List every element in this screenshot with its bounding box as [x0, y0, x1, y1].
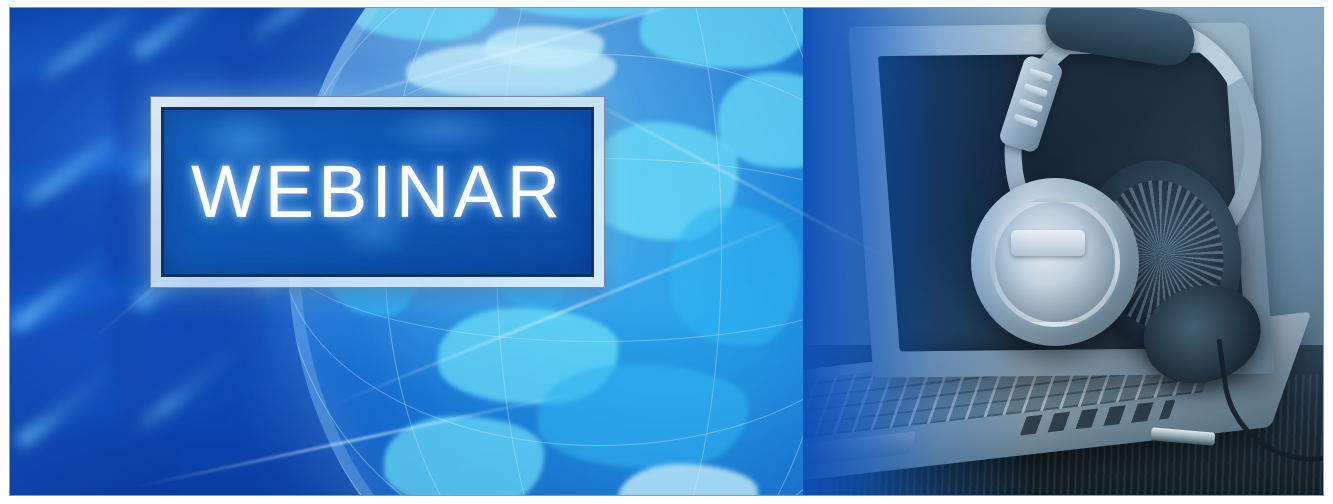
photo-left-fade: [803, 8, 1323, 495]
page-title: WEBINAR: [191, 155, 564, 229]
banner-canvas: WEBINAR: [10, 8, 1323, 495]
webinar-banner: WEBINAR: [0, 0, 1333, 504]
laptop-headphones-photo: [803, 8, 1323, 495]
webinar-title-inner-frame: WEBINAR: [161, 107, 594, 277]
webinar-title-plate: WEBINAR: [150, 96, 605, 288]
